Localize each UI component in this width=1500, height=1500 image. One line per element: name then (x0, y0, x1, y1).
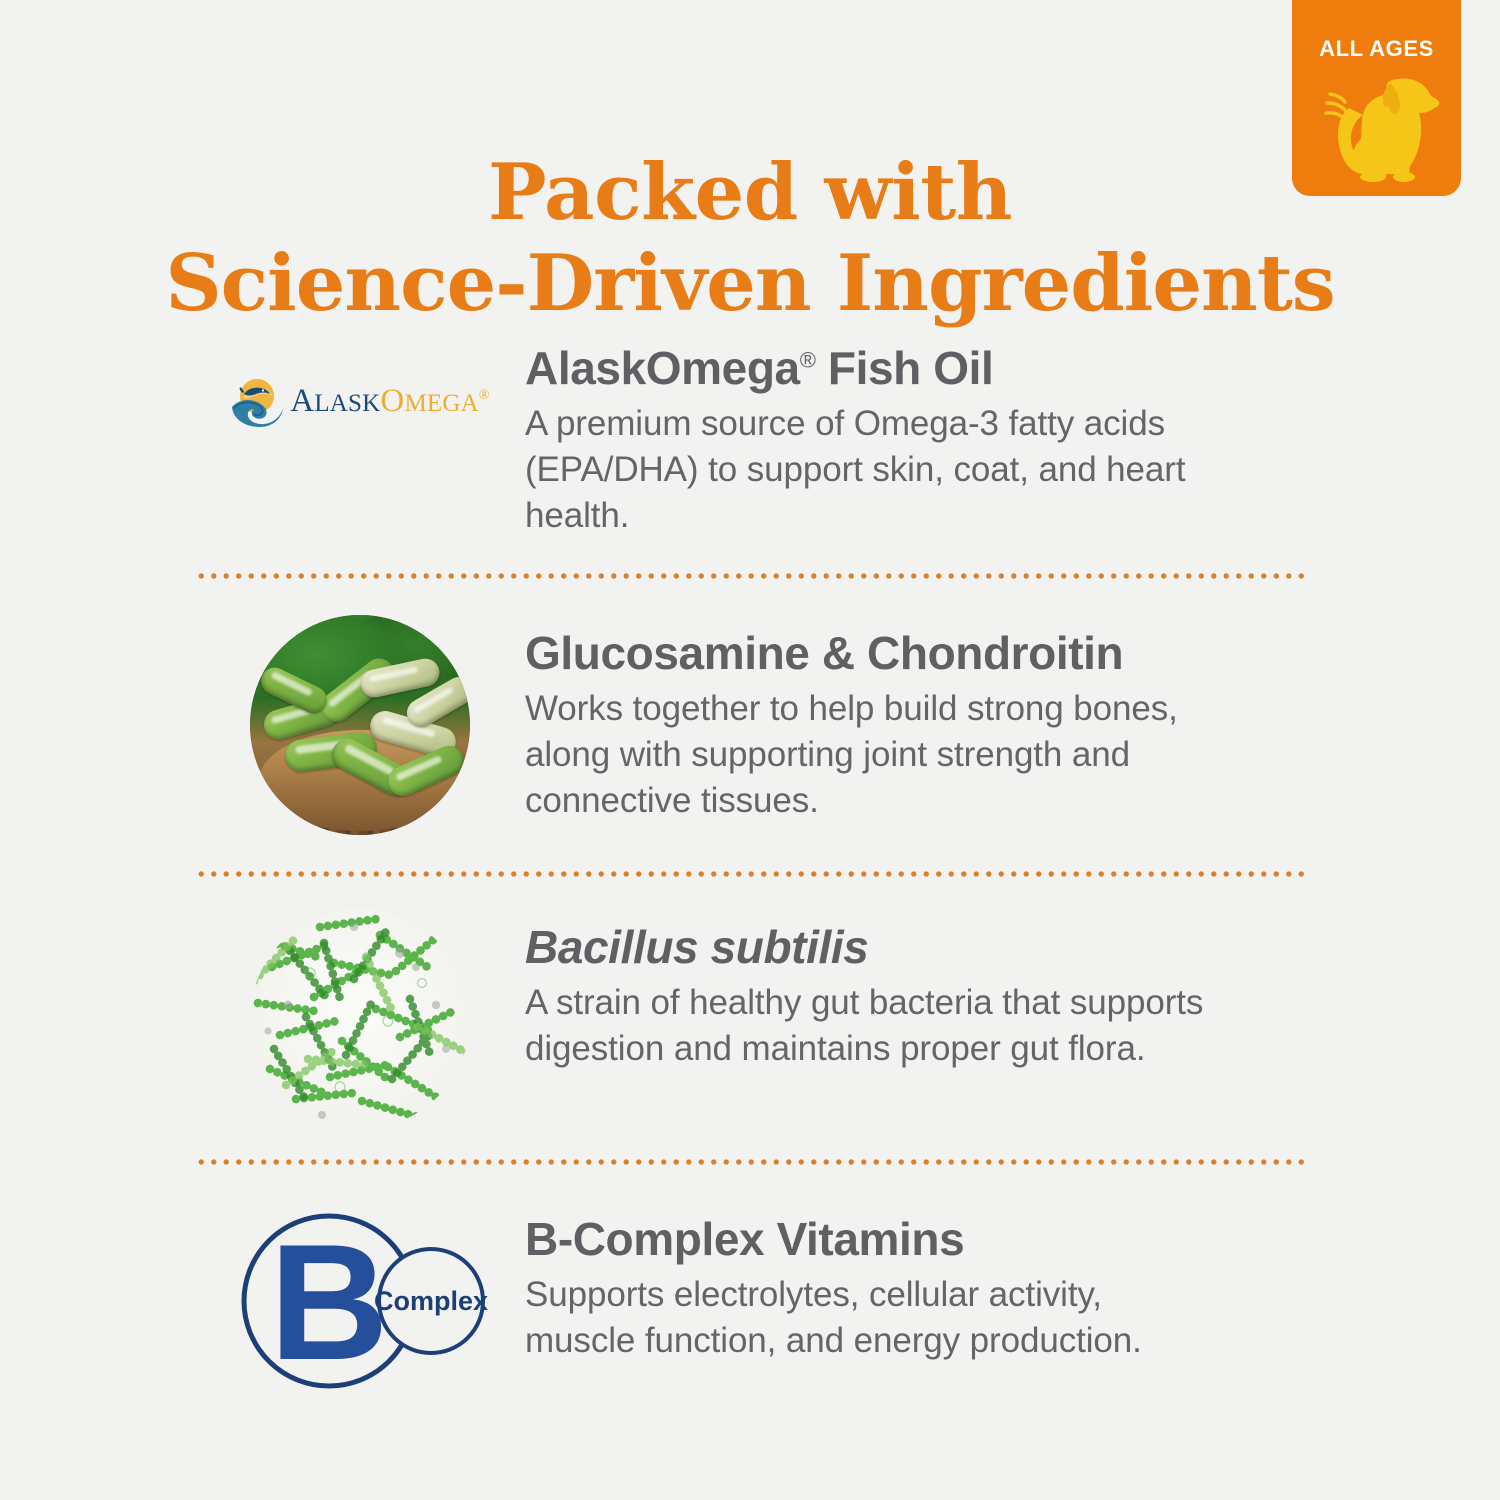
page-title: Packed with Science-Driven Ingredients (0, 148, 1500, 329)
ingredient-text: Bacillus subtilis A strain of healthy gu… (525, 909, 1305, 1072)
ingredient-list: ALASKOMEGA® AlaskOmega® Fish Oil A premi… (0, 336, 1500, 1401)
complex-label: Complex (374, 1286, 488, 1316)
page-title-line-1: Packed with (0, 148, 1500, 238)
ingredient-text: AlaskOmega® Fish Oil A premium source of… (525, 342, 1305, 539)
ingredient-media: ALASKOMEGA® (195, 342, 525, 396)
ingredient-media: B Complex (195, 1201, 525, 1401)
b-complex-icon: B Complex (229, 1201, 491, 1401)
ingredient-row-alaskomega-fish-oil: ALASKOMEGA® AlaskOmega® Fish Oil A premi… (0, 336, 1500, 573)
ingredient-description: A strain of healthy gut bacteria that su… (525, 980, 1215, 1072)
ingredient-row-b-complex-vitamins: B Complex B-Complex Vitamins Supports el… (0, 1165, 1500, 1401)
alaskomega-wordmark-alask-rest: LASK (314, 390, 380, 417)
alaskomega-logo: ALASKOMEGA® (230, 374, 489, 428)
ingredient-text: Glucosamine & Chondroitin Works together… (525, 615, 1305, 824)
alaskomega-wordmark-alask: ALASK (290, 383, 380, 419)
b-complex-logo: B Complex (229, 1201, 491, 1401)
ingredient-title-main: AlaskOmega (525, 342, 800, 394)
bacteria-chains-icon (250, 909, 470, 1129)
ingredient-title: AlaskOmega® Fish Oil (525, 344, 1305, 393)
ingredient-title: B-Complex Vitamins (525, 1215, 1305, 1264)
ingredient-description: Works together to help build strong bone… (525, 686, 1215, 825)
page-title-line-2: Science-Driven Ingredients (0, 239, 1500, 329)
ingredient-title: Bacillus subtilis (525, 923, 1305, 972)
alaskomega-wordmark-omega: OMEGA (380, 383, 478, 419)
ingredient-media (195, 615, 525, 835)
alaskomega-emblem-icon (230, 374, 284, 428)
ingredient-title: Glucosamine & Chondroitin (525, 629, 1305, 678)
bacteria-microscopy-photo (250, 909, 470, 1129)
alaskomega-wordmark-registered: ® (479, 388, 490, 403)
ingredient-description: A premium source of Omega-3 fatty acids … (525, 401, 1215, 540)
alaskomega-wordmark-omega-rest: MEGA (404, 390, 478, 417)
ingredient-row-bacillus-subtilis: Bacillus subtilis A strain of healthy gu… (0, 877, 1500, 1159)
registered-mark: ® (800, 348, 816, 373)
alaskomega-wordmark: ALASKOMEGA® (290, 385, 489, 418)
green-capsules-photo (250, 615, 470, 835)
all-ages-label: ALL AGES (1292, 36, 1461, 62)
ingredient-description: Supports electrolytes, cellular activity… (525, 1272, 1215, 1364)
ingredient-media (195, 909, 525, 1129)
b-letter: B (269, 1210, 388, 1394)
ingredient-row-glucosamine-chondroitin: Glucosamine & Chondroitin Works together… (0, 579, 1500, 871)
ingredient-title-suffix: Fish Oil (816, 342, 994, 394)
ingredient-text: B-Complex Vitamins Supports electrolytes… (525, 1201, 1305, 1364)
